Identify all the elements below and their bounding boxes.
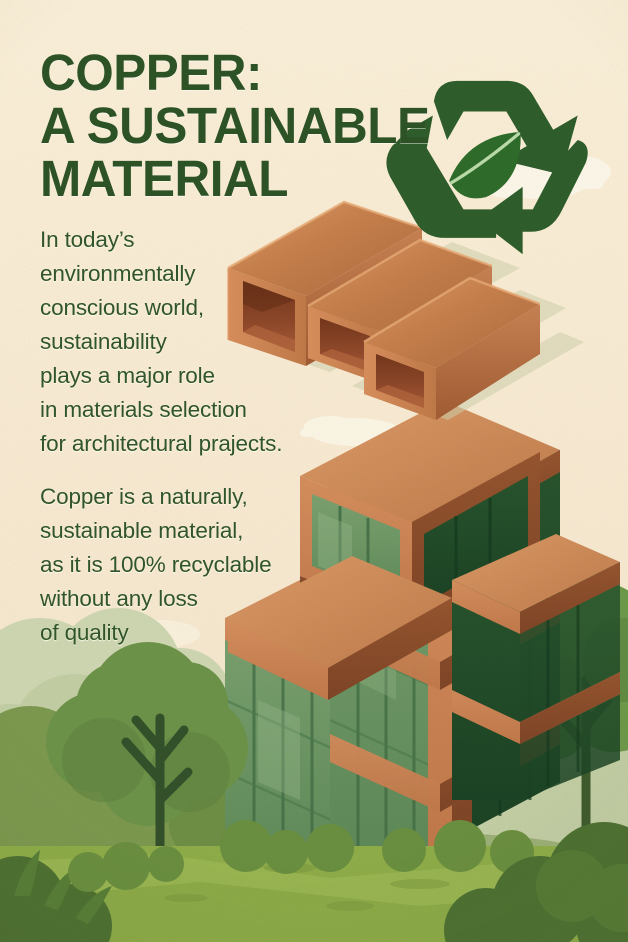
p2-line-4: without any loss (40, 586, 198, 611)
p2-line-3: as it is 100% recyclable (40, 552, 272, 577)
page-title: COPPER: A SUSTAINABLE MATERIAL (40, 46, 360, 205)
p1-line-5: plays a major role (40, 363, 215, 388)
p2-line-5: of quality (40, 620, 129, 645)
p1-line-1: In today’s (40, 227, 134, 252)
headline-line-3: MATERIAL (40, 152, 360, 205)
body-paragraph-2: Copper is a naturally, sustainable mater… (40, 480, 370, 650)
p1-line-3: conscious world, (40, 295, 204, 320)
p2-line-1: Copper is a naturally, (40, 484, 248, 509)
leaf-icon (449, 132, 521, 199)
p1-line-4: sustainability (40, 329, 167, 354)
p2-line-2: sustainable material, (40, 518, 243, 543)
text-content-block: COPPER: A SUSTAINABLE MATERIAL In today’… (40, 46, 370, 650)
p1-line-6: in materials selection (40, 397, 247, 422)
poster-canvas: COPPER: A SUSTAINABLE MATERIAL In today’… (0, 0, 628, 942)
p1-line-7: for architectural prajects. (40, 431, 282, 456)
p1-line-2: environmentally (40, 261, 195, 286)
headline-line-2: A SUSTAINABLE (40, 99, 360, 152)
body-paragraph-1: In today’s environmentally conscious wor… (40, 223, 370, 461)
headline-line-1: COPPER: (40, 46, 360, 99)
